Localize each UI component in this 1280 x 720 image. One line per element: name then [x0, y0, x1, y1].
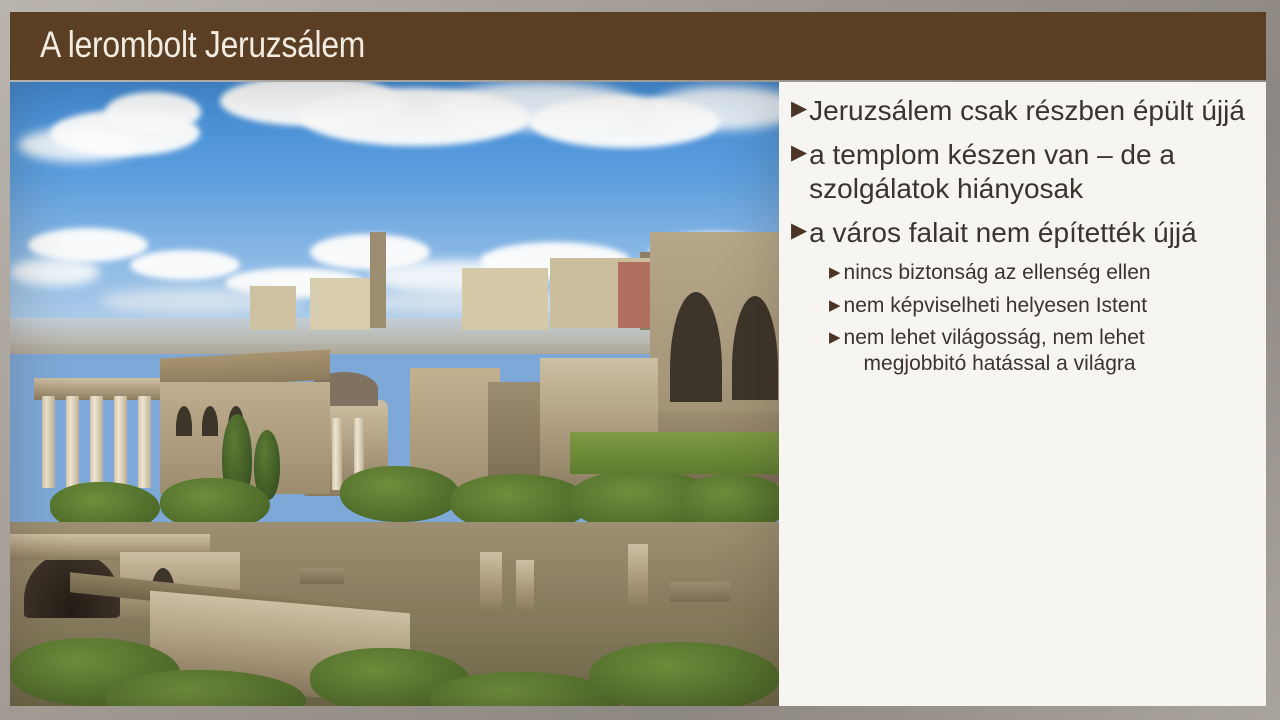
standing-stone	[628, 544, 648, 606]
lawn	[570, 432, 779, 474]
bullet-triangle-icon: ▶	[829, 264, 841, 282]
shrub	[340, 466, 460, 522]
slide-body: ▶ Jeruzsálem csak részben épült újjá ▶ a…	[10, 82, 1266, 706]
sub-bullet-text: nem képviselheti helyesen Istent	[844, 293, 1148, 319]
building	[250, 286, 296, 330]
column	[42, 396, 55, 488]
sub-bullet-text: nem lehet világosság, nem lehetmegjobbit…	[844, 325, 1145, 376]
building	[310, 278, 370, 330]
tower	[370, 232, 386, 328]
sub-bullet-list: ▶ nincs biztonság az ellenség ellen ▶ ne…	[829, 260, 1252, 376]
column	[90, 396, 103, 488]
roman-forum-photo	[10, 82, 779, 706]
sub-bullet-text: nincs biztonság az ellenség ellen	[844, 260, 1151, 286]
bullet-item: ▶ Jeruzsálem csak részben épült újjá	[791, 94, 1252, 127]
bullet-item: ▶ a város falait nem építették újjá	[791, 216, 1252, 249]
cloud	[130, 250, 240, 280]
standing-stone	[480, 552, 502, 610]
bullet-triangle-icon: ▶	[829, 329, 841, 347]
sub-bullet-line: megjobbitó hatással a világra	[844, 351, 1145, 377]
slide-title: A lerombolt Jeruzsálem	[40, 24, 365, 66]
sub-bullet-line: nem lehet világosság, nem lehet	[844, 326, 1145, 349]
bullet-item: ▶ a templom készen van – de a szolgálato…	[791, 138, 1252, 205]
fallen-stone	[300, 568, 344, 584]
column	[66, 396, 79, 488]
sub-bullet-item: ▶ nem lehet világosság, nem lehetmegjobb…	[829, 325, 1252, 376]
bullet-text: Jeruzsálem csak részben épült újjá	[809, 94, 1245, 127]
bullet-line: szolgálatok hiányosak	[809, 173, 1083, 204]
bullet-triangle-icon: ▶	[791, 97, 807, 122]
bullet-triangle-icon: ▶	[791, 219, 807, 244]
bullet-list: ▶ Jeruzsálem csak részben épült újjá ▶ a…	[779, 82, 1266, 706]
cloud	[18, 128, 138, 162]
bullet-triangle-icon: ▶	[791, 141, 807, 166]
slide-frame: A lerombolt Jeruzsálem	[0, 0, 1280, 720]
bullet-line: a templom készen van – de a	[809, 139, 1175, 170]
column	[114, 396, 127, 488]
building	[462, 268, 548, 330]
bullet-triangle-icon: ▶	[829, 297, 841, 315]
sub-bullet-item: ▶ nincs biztonság az ellenség ellen	[829, 260, 1252, 286]
bullet-text: a város falait nem építették újjá	[809, 216, 1197, 249]
cloud	[105, 92, 201, 132]
cloud	[10, 258, 100, 286]
column	[332, 418, 342, 490]
title-banner: A lerombolt Jeruzsálem	[10, 12, 1266, 80]
fallen-stone	[670, 582, 730, 602]
grass-patch	[590, 642, 779, 706]
cloud	[28, 228, 148, 262]
column	[138, 396, 151, 488]
sub-bullet-item: ▶ nem képviselheti helyesen Istent	[829, 293, 1252, 319]
bullet-text: a templom készen van – de a szolgálatok …	[809, 138, 1252, 205]
standing-stone	[516, 560, 534, 610]
